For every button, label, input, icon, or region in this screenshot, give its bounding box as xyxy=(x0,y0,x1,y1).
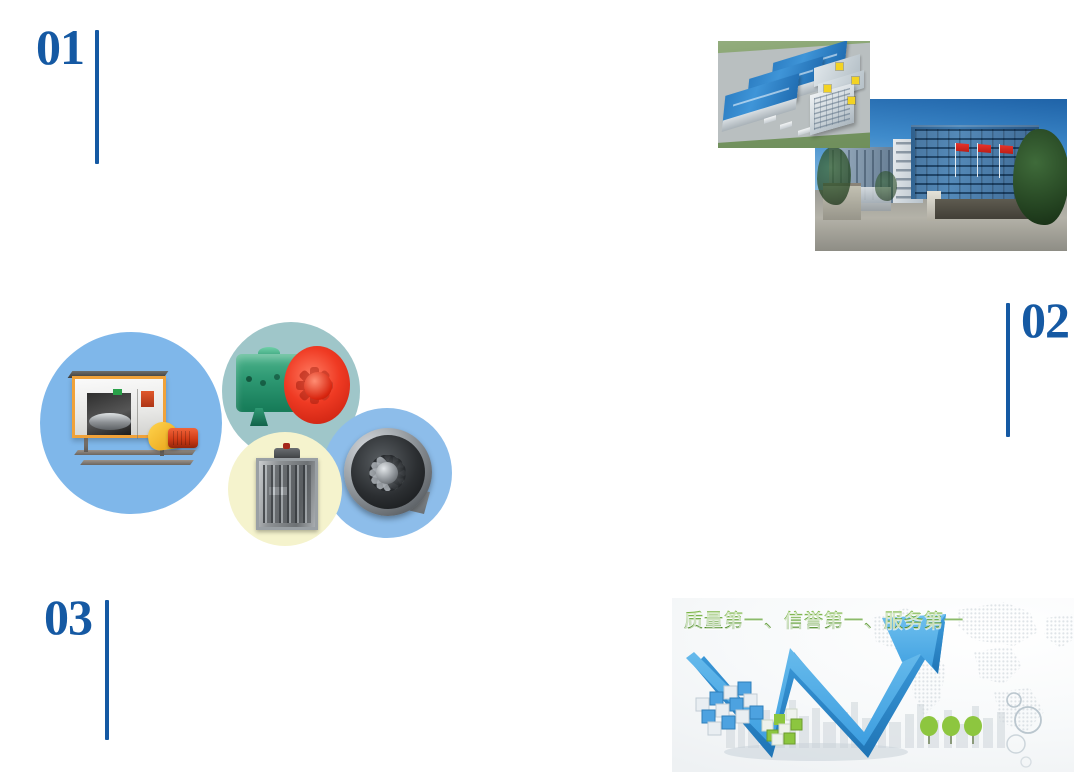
fan-base-rail xyxy=(74,450,196,455)
metal-impeller-illustration xyxy=(338,426,436,520)
fan-wheel xyxy=(89,413,131,430)
fan-leg xyxy=(84,436,88,452)
red-flag-icon xyxy=(1000,145,1013,154)
impeller-hub xyxy=(376,462,398,484)
product-circle-metal-impeller xyxy=(322,408,452,538)
factory-aerial-image xyxy=(718,41,870,148)
tree-group-icon xyxy=(920,708,984,746)
impeller-hub xyxy=(304,372,332,400)
green-cube-cluster-icon xyxy=(760,706,808,746)
slogan-text: 质量第一、信誉第一、服务第一 xyxy=(684,606,964,633)
flagpole xyxy=(955,143,956,177)
flagpole xyxy=(999,144,1000,178)
aerial-marker-tag xyxy=(852,77,859,84)
aerial-marker-tag xyxy=(824,85,831,92)
red-flag-icon xyxy=(978,144,991,153)
control-box xyxy=(141,391,154,407)
product-collage xyxy=(32,322,432,550)
section-number-02: 02 xyxy=(1021,297,1069,343)
section-marker-03: 03 xyxy=(44,594,109,740)
fire-damper-illustration xyxy=(256,448,318,532)
aerial-marker-tag xyxy=(836,63,843,70)
product-circle-cabinet-centrifugal-fan xyxy=(40,332,222,514)
page-root: 01 02 03 xyxy=(0,0,1074,772)
axial-fan-illustration xyxy=(236,344,350,436)
slogan-growth-banner: 质量第一、信誉第一、服务第一 xyxy=(672,598,1074,772)
blue-cube-cluster-icon xyxy=(694,676,770,738)
aerial-marker-tag xyxy=(848,97,855,104)
tree xyxy=(1013,129,1067,225)
section-number-01: 01 xyxy=(36,24,84,70)
fan-base-rail xyxy=(80,460,194,465)
product-circle-fire-damper xyxy=(228,432,342,546)
section-marker-01: 01 xyxy=(36,24,99,164)
section-rule-02 xyxy=(1006,303,1010,437)
damper-frame xyxy=(256,458,318,530)
red-flag-icon xyxy=(956,143,969,152)
section-rule-03 xyxy=(105,600,109,740)
damper-label-plate xyxy=(269,487,287,495)
nameplate xyxy=(113,389,122,395)
flagpole xyxy=(977,143,978,177)
section-marker-02: 02 xyxy=(1006,297,1069,437)
cabinet-fan-illustration xyxy=(64,370,198,474)
tree xyxy=(875,171,897,201)
electric-motor xyxy=(168,428,198,448)
tree xyxy=(817,147,851,205)
bubble-circles-graphic xyxy=(996,690,1056,768)
section-number-03: 03 xyxy=(44,594,92,640)
section-rule-01 xyxy=(95,30,99,164)
cabinet-panel-seam xyxy=(137,389,138,439)
